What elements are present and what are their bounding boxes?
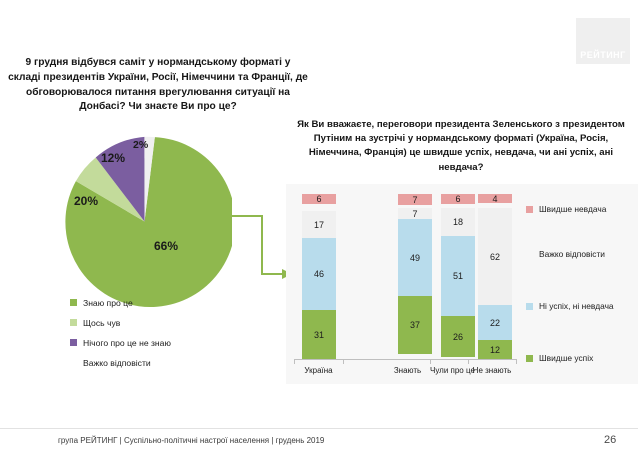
bar-seg-shvydshe-uspih-1: 37 [398, 296, 432, 354]
bar-seg-shvydshe-uspih-3: 12 [478, 340, 512, 359]
bar-seg-vazhko-vidpovisty-1: 7 [398, 208, 432, 219]
pie-legend-item-vazhko-vidpovisty: Важко відповісти [70, 354, 280, 371]
bar-category-label-ukraina: Україна [294, 366, 343, 375]
bar-seg-vazhko-vidpovisty-3: 62 [478, 208, 512, 305]
bar-legend-item-shvydshe-nevdacha: Швидше невдача [526, 202, 634, 216]
bar-column-ne-znayut: 4 62 22 12 [478, 194, 512, 359]
footer-divider [0, 428, 638, 429]
bar-seg-shvydshe-nevdacha-3: 4 [478, 194, 512, 203]
bar-legend-label-1: Важко відповісти [539, 249, 605, 259]
bar-value-label: 6 [316, 194, 321, 204]
bar-legend-label-0: Швидше невдача [539, 204, 606, 214]
pie-legend-item-nichogo-ne-znayu: Нічого про це не знаю [70, 334, 280, 351]
pie-legend-item-shchos-chuv: Щось чув [70, 314, 280, 331]
bar-value-label: 46 [314, 269, 324, 279]
bar-seg-vazhko-vidpovisty-2: 18 [441, 208, 475, 236]
bar-category-label-znayut: Знають [385, 366, 430, 375]
pie-chart: 66% 20% 12% 2% [57, 134, 232, 309]
legend-swatch-white-icon [526, 251, 533, 258]
bar-column-znayut: 7 7 49 37 [398, 194, 432, 359]
bar-seg-shvydshe-nevdacha-1: 7 [398, 194, 432, 205]
bar-value-label: 6 [455, 194, 460, 204]
logo-text: РЕЙТИНГ [580, 50, 626, 64]
bar-seg-ni-uspih-ni-nevdacha-1: 49 [398, 219, 432, 296]
legend-swatch-pink-icon [526, 206, 533, 213]
legend-swatch-green-icon [526, 355, 533, 362]
bar-value-label: 37 [410, 320, 420, 330]
bar-category-label-ne-znayut: Не знають [468, 366, 516, 375]
bar-column-ukraina: 6 17 46 31 [302, 194, 336, 359]
bar-seg-shvydshe-nevdacha-0: 6 [302, 194, 336, 204]
pie-chart-svg [57, 134, 232, 309]
pie-label-66: 66% [154, 239, 178, 253]
bar-chart-title: Як Ви вважаєте, переговори президента Зе… [292, 118, 630, 175]
bar-value-label: 4 [492, 194, 497, 204]
bar-seg-vazhko-vidpovisty-0: 17 [302, 211, 336, 238]
bar-legend-label-2: Ні успіх, ні невдача [539, 301, 614, 311]
connector-arrow-icon [212, 212, 294, 282]
bar-value-label: 31 [314, 330, 324, 340]
bar-column-chuly-pro-tse: 6 18 51 26 [441, 194, 475, 359]
bar-value-label: 7 [412, 209, 417, 219]
bar-value-label: 12 [490, 345, 500, 355]
bar-seg-shvydshe-nevdacha-2: 6 [441, 194, 475, 204]
axis-tick [468, 359, 469, 364]
bar-legend-label-3: Швидше успіх [539, 353, 593, 363]
slide: РЕЙТИНГ 9 грудня відбувся саміт у норман… [0, 0, 638, 456]
rating-logo: РЕЙТИНГ [576, 18, 630, 64]
bar-chart-panel: 6 17 46 31 7 7 [286, 184, 638, 384]
legend-swatch-green-icon [70, 299, 77, 306]
pie-label-12: 12% [101, 151, 125, 165]
bar-seg-ni-uspih-ni-nevdacha-3: 22 [478, 305, 512, 340]
pie-label-20: 20% [74, 194, 98, 208]
bar-value-label: 7 [412, 195, 417, 205]
pie-legend-item-znayu-pro-tse: Знаю про це [70, 294, 280, 311]
bar-value-label: 51 [453, 271, 463, 281]
bar-x-axis [294, 359, 516, 360]
axis-tick [430, 359, 431, 364]
axis-tick [343, 359, 344, 364]
pie-label-2: 2% [133, 139, 148, 151]
bar-legend-item-vazhko-vidpovisty: Важко відповісти [526, 247, 634, 261]
bar-seg-spacer [302, 204, 336, 211]
page-number: 26 [604, 434, 616, 446]
axis-tick [294, 359, 295, 364]
bar-seg-ni-uspih-ni-nevdacha-2: 51 [441, 236, 475, 316]
bar-value-label: 62 [490, 252, 500, 262]
pie-legend-label-0: Знаю про це [83, 298, 133, 308]
bar-value-label: 17 [314, 220, 324, 230]
legend-swatch-blue-icon [526, 303, 533, 310]
bar-value-label: 22 [490, 318, 500, 328]
bar-seg-ni-uspih-ni-nevdacha-0: 46 [302, 238, 336, 310]
bar-legend-item-shvydshe-uspih: Швидше успіх [526, 351, 634, 365]
bar-legend-item-ni-uspih-ni-nevdacha: Ні успіх, ні невдача [526, 299, 634, 313]
bar-category-label-chuly-pro-tse: Чули про це [430, 366, 468, 375]
legend-swatch-white-icon [70, 359, 77, 366]
pie-legend: Знаю про це Щось чув Нічого про це не зн… [70, 294, 280, 374]
bar-seg-shvydshe-uspih-0: 31 [302, 310, 336, 359]
bar-seg-shvydshe-uspih-2: 26 [441, 316, 475, 357]
bar-legend: Швидше невдача Важко відповісти Ні успіх… [526, 202, 634, 365]
bar-value-label: 18 [453, 217, 463, 227]
pie-legend-label-1: Щось чув [83, 318, 120, 328]
footer-caption: група РЕЙТИНГ | Суспільно-політичні наст… [58, 436, 324, 445]
bar-plot-area: 6 17 46 31 7 7 [294, 194, 516, 359]
legend-swatch-purple-icon [70, 339, 77, 346]
axis-tick [516, 359, 517, 364]
bar-value-label: 26 [453, 332, 463, 342]
pie-legend-label-2: Нічого про це не знаю [83, 338, 171, 348]
legend-swatch-light-green-icon [70, 319, 77, 326]
pie-chart-title: 9 грудня відбувся саміт у нормандському … [8, 56, 308, 115]
bar-value-label: 49 [410, 253, 420, 263]
pie-legend-label-3: Важко відповісти [83, 358, 151, 368]
